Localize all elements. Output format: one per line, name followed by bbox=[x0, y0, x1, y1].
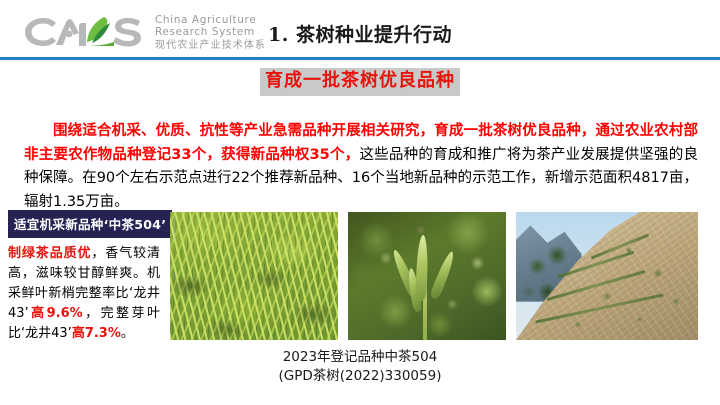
slide-header: China Agriculture Research System 现代农业产业… bbox=[0, 0, 720, 56]
variety-desc-segment-2: 高9.6% bbox=[29, 306, 83, 321]
caption-line-1: 2023年登记品种中茶504 bbox=[170, 348, 550, 367]
page-title: 1. 茶树种业提升行动 bbox=[0, 20, 720, 47]
tea-shoot-closeup-photo bbox=[348, 212, 506, 340]
slide-canvas: China Agriculture Research System 现代农业产业… bbox=[0, 0, 720, 405]
photo-caption: 2023年登记品种中茶504 (GPD茶树(2022)330059) bbox=[170, 348, 550, 386]
tea-canopy-photo bbox=[170, 212, 338, 340]
variety-desc-segment-5: 。 bbox=[121, 326, 134, 341]
variety-desc-segment-0: 制绿茶品质优 bbox=[8, 246, 91, 261]
header-divider bbox=[0, 57, 720, 60]
caption-line-2: (GPD茶树(2022)330059) bbox=[170, 367, 550, 386]
slope-shrub-layer bbox=[516, 212, 698, 340]
variety-name-badge: 适宜机采新品种‘中茶504’ bbox=[8, 210, 172, 238]
variety-desc-segment-4: 高7.3% bbox=[72, 326, 121, 341]
hillside-terrace-photo bbox=[516, 212, 698, 340]
section-headline-row: 育成一批茶树优良品种 bbox=[0, 68, 720, 96]
section-headline: 育成一批茶树优良品种 bbox=[260, 68, 460, 96]
canopy-shadow-layer bbox=[170, 212, 338, 340]
variety-description: 制绿茶品质优，香气较清高，滋味较甘醇鲜爽。机采鲜叶新梢完整率比‘龙井43’高9.… bbox=[8, 244, 160, 344]
body-paragraph: 围绕适合机采、优质、抗性等产业急需品种开展相关研究，育成一批茶树优良品种，通过农… bbox=[24, 120, 698, 214]
